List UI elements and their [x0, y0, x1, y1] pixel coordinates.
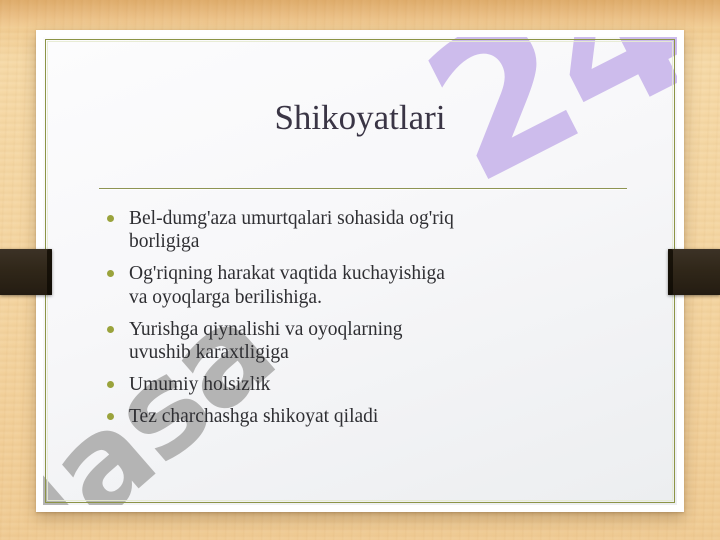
binder-clip-right [668, 249, 720, 295]
bullet-dot-icon [107, 326, 114, 333]
bullet-list: Bel-dumg'aza umurtqalari sohasida og'riq… [101, 207, 641, 438]
list-item-text: Umumiy holsizlik [129, 373, 641, 396]
binder-clip-right-edge [668, 249, 673, 295]
bullet-dot-icon [107, 381, 114, 388]
list-item: Umumiy holsizlik [101, 373, 641, 396]
slide-page: 24 Hasa Shikoyatlari Bel-dumg'aza umurtq… [43, 37, 677, 505]
slide-stage: 24 Hasa Shikoyatlari Bel-dumg'aza umurtq… [0, 0, 720, 540]
title-divider [99, 188, 627, 189]
list-item: Tez charchashga shikoyat qiladi [101, 405, 641, 428]
list-item-text: Bel-dumg'aza umurtqalari sohasida og'riq… [129, 207, 641, 253]
bullet-dot-icon [107, 270, 114, 277]
list-item-text: Og'riqning harakat vaqtida kuchayishiga … [129, 262, 641, 308]
list-item: Bel-dumg'aza umurtqalari sohasida og'riq… [101, 207, 641, 253]
wood-top-band [0, 0, 720, 26]
binder-clip-left-edge [47, 249, 52, 295]
list-item: Og'riqning harakat vaqtida kuchayishiga … [101, 262, 641, 308]
list-item: Yurishga qiynalishi va oyoqlarning uvush… [101, 318, 641, 364]
list-item-text: Tez charchashga shikoyat qiladi [129, 405, 641, 428]
slide-content: Shikoyatlari Bel-dumg'aza umurtqalari so… [43, 37, 677, 505]
list-item-text: Yurishga qiynalishi va oyoqlarning uvush… [129, 318, 641, 364]
binder-clip-left [0, 249, 52, 295]
bullet-dot-icon [107, 215, 114, 222]
bullet-dot-icon [107, 413, 114, 420]
slide-title: Shikoyatlari [73, 99, 647, 138]
slide-card[interactable]: 24 Hasa Shikoyatlari Bel-dumg'aza umurtq… [36, 30, 684, 512]
